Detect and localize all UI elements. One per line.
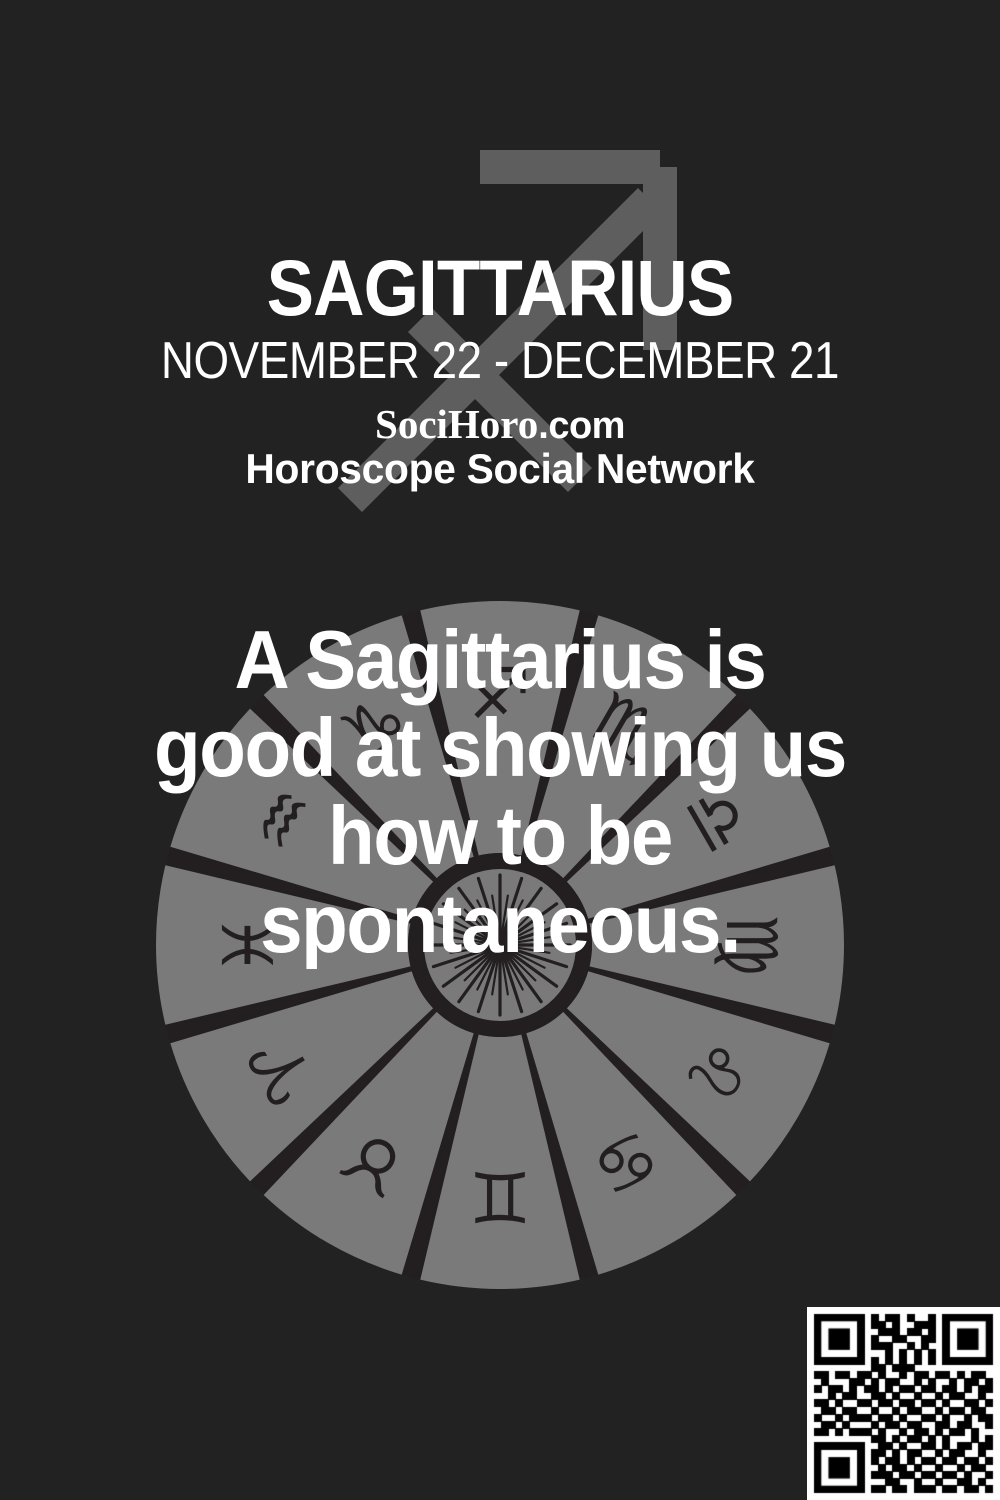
date-range-label: NOVEMBER 22 - DECEMBER 21 bbox=[60, 335, 940, 387]
qr-code-image bbox=[807, 1307, 1000, 1500]
quote-line: good at showing us bbox=[40, 704, 960, 792]
quote-text: A Sagittarius is good at showing us how … bbox=[40, 616, 960, 968]
page-title: SAGITTARIUS bbox=[50, 248, 950, 327]
zodiac-glyph-gemini: ♊ bbox=[469, 1155, 532, 1237]
tagline-label: Horoscope Social Network bbox=[15, 448, 985, 490]
brand-name: SociHoro bbox=[375, 401, 538, 447]
quote-line: how to be bbox=[40, 792, 960, 880]
qr-code[interactable] bbox=[795, 1295, 1000, 1500]
quote-line: spontaneous. bbox=[40, 880, 960, 968]
quote-line: A Sagittarius is bbox=[40, 616, 960, 704]
brand-tld: .com bbox=[538, 405, 625, 447]
brand-wordmark: SociHoro.com bbox=[0, 404, 1000, 446]
poster-root: SAGITTARIUS NOVEMBER 22 - DECEMBER 21 So… bbox=[0, 0, 1000, 1500]
